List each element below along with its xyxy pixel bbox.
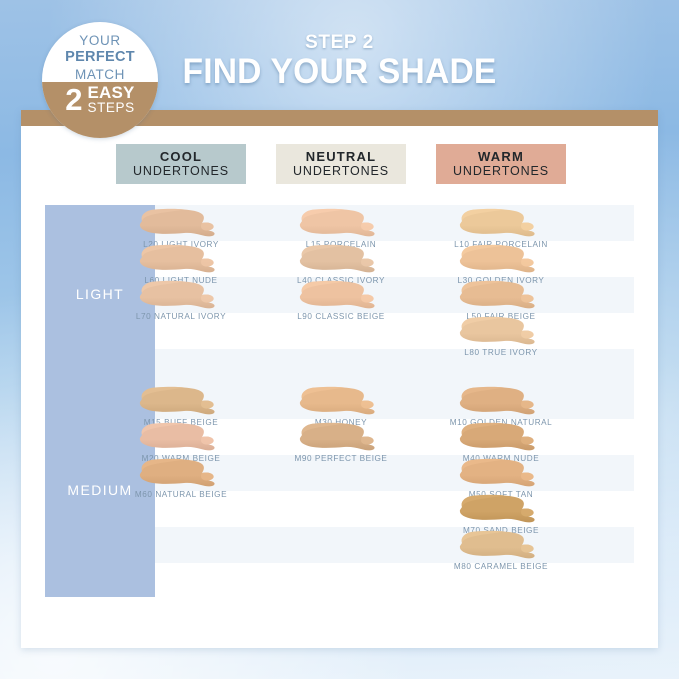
shade-swatch-cell[interactable]: L90 CLASSIC BEIGE: [266, 279, 416, 321]
shade-swatch-icon: [134, 385, 229, 417]
shade-swatch-cell[interactable]: L80 TRUE IVORY: [426, 315, 576, 357]
shade-name-label: L80 TRUE IVORY: [426, 348, 576, 357]
badge-top-text: YOUR PERFECT MATCH: [42, 33, 158, 84]
shade-swatch-icon: [294, 385, 389, 417]
shade-finder-infographic: STEP 2 FIND YOUR SHADE YOUR PERFECT MATC…: [0, 0, 679, 679]
shade-name-label: M90 PERFECT BEIGE: [266, 454, 416, 463]
shade-grid: COOLUNDERTONESNEUTRALUNDERTONESWARMUNDER…: [21, 110, 658, 648]
shade-name-label: M80 CARAMEL BEIGE: [426, 562, 576, 571]
badge-line-1: YOUR: [42, 33, 158, 49]
badge-line-2: PERFECT: [42, 49, 158, 67]
badge-step-number: 2: [65, 84, 82, 115]
column-header-subtitle: UNDERTONES: [133, 164, 229, 178]
shade-name-label: L90 CLASSIC BEIGE: [266, 312, 416, 321]
badge-easy-label: EASY: [87, 84, 134, 101]
shade-swatch-icon: [454, 421, 549, 453]
shade-swatch-icon: [134, 457, 229, 489]
shade-swatch-icon: [454, 493, 549, 525]
column-header-title: WARM: [478, 150, 524, 165]
shade-swatch-icon: [134, 279, 229, 311]
column-header-title: NEUTRAL: [306, 150, 377, 165]
shade-swatch-icon: [294, 243, 389, 275]
perfect-match-badge: YOUR PERFECT MATCH 2 EASY STEPS: [42, 22, 158, 138]
chart-panel: COOLUNDERTONESNEUTRALUNDERTONESWARMUNDER…: [21, 110, 658, 648]
shade-name-label: L70 NATURAL IVORY: [106, 312, 256, 321]
shade-swatch-icon: [454, 457, 549, 489]
column-header-title: COOL: [160, 150, 202, 165]
shade-swatch-cell[interactable]: M90 PERFECT BEIGE: [266, 421, 416, 463]
shade-swatch-icon: [134, 421, 229, 453]
shade-swatch-icon: [454, 529, 549, 561]
column-header-subtitle: UNDERTONES: [293, 164, 389, 178]
shade-swatch-icon: [134, 207, 229, 239]
shade-name-label: M60 NATURAL BEIGE: [106, 490, 256, 499]
shade-swatch-icon: [454, 385, 549, 417]
shade-swatch-icon: [294, 207, 389, 239]
shade-swatch-cell[interactable]: M80 CARAMEL BEIGE: [426, 529, 576, 571]
shade-swatch-icon: [454, 207, 549, 239]
shade-swatch-icon: [294, 421, 389, 453]
column-header-cool: COOLUNDERTONES: [116, 144, 246, 184]
shade-swatch-icon: [454, 243, 549, 275]
shade-swatch-icon: [294, 279, 389, 311]
column-header-warm: WARMUNDERTONES: [436, 144, 566, 184]
column-header-neutral: NEUTRALUNDERTONES: [276, 144, 406, 184]
badge-line-3: MATCH: [42, 67, 158, 83]
badge-bottom-text: 2 EASY STEPS: [42, 84, 158, 115]
shade-swatch-cell[interactable]: M60 NATURAL BEIGE: [106, 457, 256, 499]
shade-swatch-cell[interactable]: L70 NATURAL IVORY: [106, 279, 256, 321]
shade-swatch-icon: [454, 279, 549, 311]
badge-steps-label: STEPS: [87, 101, 134, 115]
shade-swatch-icon: [134, 243, 229, 275]
column-header-subtitle: UNDERTONES: [453, 164, 549, 178]
shade-swatch-icon: [454, 315, 549, 347]
